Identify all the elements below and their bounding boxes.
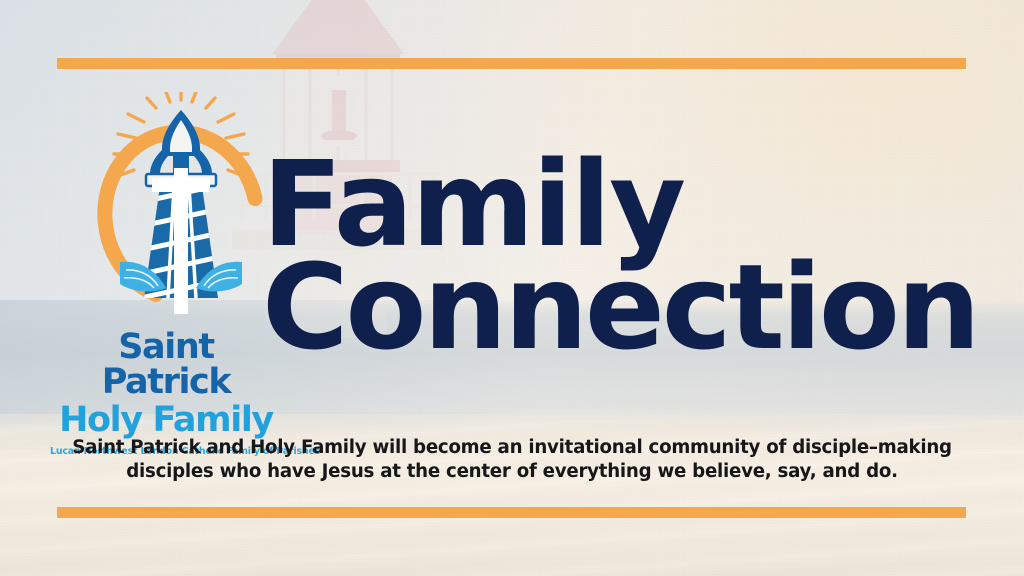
top-orange-rule — [57, 58, 966, 69]
slide-canvas: Saint Patrick Holy Family Lucan Northwes… — [0, 0, 1024, 576]
logo-name-line-2: Holy Family — [50, 403, 282, 438]
page-title: Family Connection — [262, 150, 982, 361]
logo-name-line-1: Saint Patrick — [50, 330, 282, 400]
lighthouse-logo-icon — [84, 92, 278, 320]
title-line-2: Connection — [262, 253, 982, 362]
bottom-orange-rule — [57, 507, 966, 518]
mission-statement: Saint Patrick and Holy Family will becom… — [42, 436, 982, 484]
